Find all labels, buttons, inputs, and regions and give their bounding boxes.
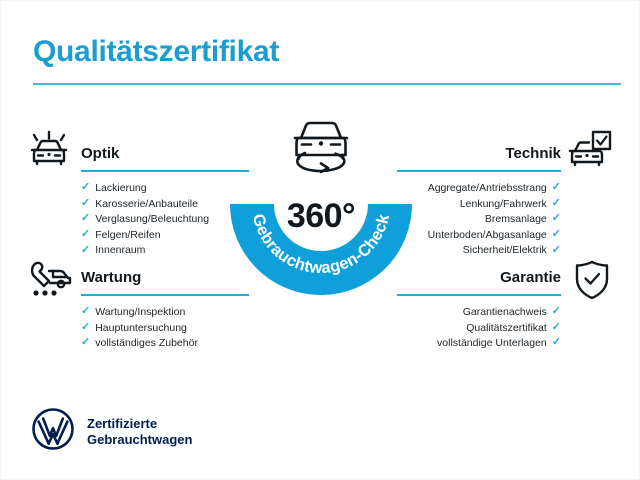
list-item-label: Sicherheit/Elektrik (463, 243, 547, 259)
footer-line-1: Zertifizierte (87, 416, 157, 431)
section-header: Technik (397, 144, 561, 174)
check-icon: ✓ (81, 229, 90, 240)
page-title: Qualitätszertifikat (33, 35, 279, 69)
footer-wordmark: Zertifizierte Gebrauchtwagen (87, 416, 192, 448)
360-check-badge: Gebrauchtwagen-Check 360° (230, 113, 412, 295)
section-underline (81, 170, 249, 172)
list-item: Lenkung/Fahrwerk ✓ (397, 197, 561, 213)
list-item: Garantienachweis ✓ (397, 305, 561, 321)
section-title: Optik (81, 144, 249, 164)
list-item-label: Lenkung/Fahrwerk (460, 197, 547, 213)
check-icon: ✓ (81, 322, 90, 333)
list-item-label: Bremsanlage (485, 212, 547, 228)
list-item: ✓ Wartung/Inspektion (81, 305, 249, 321)
list-item: ✓ vollständiges Zubehör (81, 336, 249, 352)
list-item-label: Unterboden/Abgasanlage (428, 228, 547, 244)
checklist: Garantienachweis ✓ Qualitätszertifikat ✓… (397, 305, 561, 352)
list-item: ✓ Karosserie/Anbauteile (81, 197, 249, 213)
check-icon: ✓ (552, 229, 561, 240)
list-item-label: Felgen/Reifen (95, 228, 160, 244)
check-icon: ✓ (552, 337, 561, 348)
section-header: Wartung (81, 268, 249, 298)
volkswagen-logo (31, 407, 75, 456)
list-item: ✓ Hauptuntersuchung (81, 321, 249, 337)
section-wartung: Wartung ✓ Wartung/Inspektion ✓ Hauptunte… (81, 268, 249, 352)
check-icon: ✓ (81, 198, 90, 209)
section-header: Garantie (397, 268, 561, 298)
certificate-page: Qualitätszertifikat (0, 0, 640, 480)
list-item-label: Innenraum (95, 243, 145, 259)
shield-check-icon (573, 259, 611, 306)
list-item: vollständige Unterlagen ✓ (397, 336, 561, 352)
list-item: Unterboden/Abgasanlage ✓ (397, 228, 561, 244)
car-rotation-icon (275, 108, 367, 187)
list-item: ✓ Innenraum (81, 243, 249, 259)
header-divider (33, 83, 621, 85)
check-icon: ✓ (81, 213, 90, 224)
section-title: Wartung (81, 268, 249, 288)
section-underline (397, 170, 561, 172)
check-icon: ✓ (81, 245, 90, 256)
list-item: ✓ Felgen/Reifen (81, 228, 249, 244)
list-item: ✓ Verglasung/Beleuchtung (81, 212, 249, 228)
check-icon: ✓ (552, 213, 561, 224)
list-item: Bremsanlage ✓ (397, 212, 561, 228)
check-icon: ✓ (552, 306, 561, 317)
list-item-label: Wartung/Inspektion (95, 305, 185, 321)
list-item-label: Hauptuntersuchung (95, 321, 187, 337)
list-item: Sicherheit/Elektrik ✓ (397, 243, 561, 259)
check-icon: ✓ (552, 245, 561, 256)
check-icon: ✓ (81, 306, 90, 317)
section-technik: Technik Aggregate/Antriebsstrang ✓ Lenku… (397, 144, 561, 259)
footer-brand: Zertifizierte Gebrauchtwagen (31, 407, 192, 456)
list-item: Qualitätszertifikat ✓ (397, 321, 561, 337)
list-item: ✓ Lackierung (81, 181, 249, 197)
list-item-label: Qualitätszertifikat (466, 321, 547, 337)
section-underline (397, 294, 561, 296)
wrench-car-icon (27, 257, 75, 306)
list-item-label: vollständige Unterlagen (437, 336, 547, 352)
footer-line-2: Gebrauchtwagen (87, 432, 192, 447)
checklist: Aggregate/Antriebsstrang ✓ Lenkung/Fahrw… (397, 181, 561, 259)
list-item-label: Lackierung (95, 181, 146, 197)
list-item-label: vollständiges Zubehör (95, 336, 198, 352)
check-icon: ✓ (552, 198, 561, 209)
section-title: Technik (397, 144, 561, 164)
checklist: ✓ Wartung/Inspektion ✓ Hauptuntersuchung… (81, 305, 249, 352)
list-item: Aggregate/Antriebsstrang ✓ (397, 181, 561, 197)
car-shine-icon (27, 129, 71, 174)
section-header: Optik (81, 144, 249, 174)
check-icon: ✓ (552, 322, 561, 333)
car-checkbox-icon (567, 129, 613, 176)
check-icon: ✓ (81, 337, 90, 348)
list-item-label: Verglasung/Beleuchtung (95, 212, 209, 228)
list-item-label: Aggregate/Antriebsstrang (428, 181, 547, 197)
section-garantie: Garantie Garantienachweis ✓ Qualitätszer… (397, 268, 561, 352)
list-item-label: Karosserie/Anbauteile (95, 197, 198, 213)
section-title: Garantie (397, 268, 561, 288)
section-underline (81, 294, 249, 296)
list-item-label: Garantienachweis (463, 305, 547, 321)
check-icon: ✓ (552, 182, 561, 193)
checklist: ✓ Lackierung ✓ Karosserie/Anbauteile ✓ V… (81, 181, 249, 259)
section-optik: Optik ✓ Lackierung ✓ Karosserie/Anbautei… (81, 144, 249, 259)
check-icon: ✓ (81, 182, 90, 193)
